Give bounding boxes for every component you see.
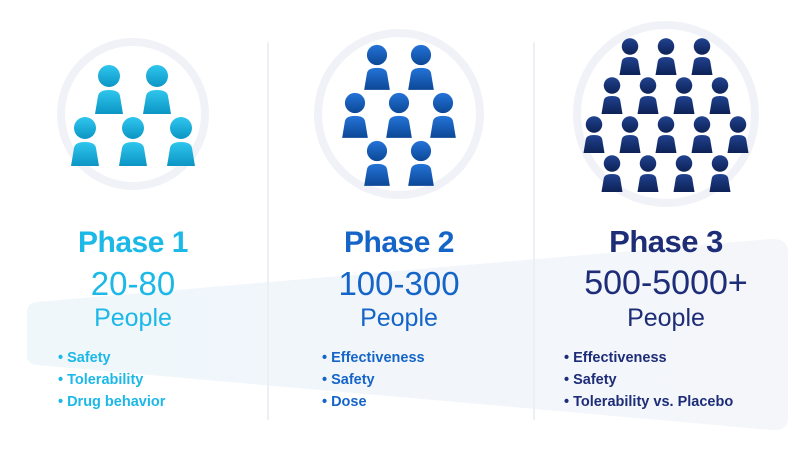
list-item: •Safety [322, 369, 425, 391]
bullet-text: Tolerability [67, 372, 143, 388]
phase-title: Phase 3 [609, 226, 723, 257]
bullet-dot-icon: • [564, 391, 569, 413]
people-row [61, 114, 205, 166]
people-row [355, 42, 443, 90]
people-row [594, 75, 738, 114]
person-icon [612, 36, 648, 75]
person-icon [421, 90, 465, 138]
person-icon [133, 62, 181, 114]
people-row [85, 62, 181, 114]
people-row [576, 114, 756, 153]
person-icon [333, 90, 377, 138]
list-item: •Safety [58, 347, 165, 369]
people-row [594, 153, 738, 192]
people-row [612, 36, 720, 75]
person-icon [666, 75, 702, 114]
list-item: •Safety [564, 369, 733, 391]
phase-columns: Phase 1 20-80 People •Safety •Tolerabili… [0, 0, 800, 450]
bullet-dot-icon: • [58, 369, 63, 391]
person-icon [594, 75, 630, 114]
person-icon [684, 114, 720, 153]
bullet-text: Safety [331, 372, 375, 388]
infographic-canvas: Phase 1 20-80 People •Safety •Tolerabili… [0, 0, 800, 450]
list-item: •Tolerability vs. Placebo [564, 391, 733, 413]
list-item: •Effectiveness [564, 347, 733, 369]
phase-column-1: Phase 1 20-80 People •Safety •Tolerabili… [0, 0, 266, 450]
bullet-text: Effectiveness [573, 350, 667, 366]
phase-column-3: Phase 3 500-5000+ People •Effectiveness … [532, 0, 800, 450]
people-row [333, 90, 465, 138]
people-group-icon [576, 36, 756, 192]
person-icon [702, 75, 738, 114]
person-icon [702, 153, 738, 192]
person-icon [61, 114, 109, 166]
bullet-dot-icon: • [564, 369, 569, 391]
people-group-icon [333, 42, 465, 186]
bullet-dot-icon: • [564, 347, 569, 369]
participant-count: 500-5000+ [584, 266, 748, 300]
bullet-dot-icon: • [322, 391, 327, 413]
people-label: People [360, 306, 438, 331]
phase-2-icon-area [299, 14, 499, 214]
people-row [355, 138, 443, 186]
bullet-text: Tolerability vs. Placebo [573, 394, 733, 410]
phase-3-text-block: Phase 3 500-5000+ People •Effectiveness … [532, 214, 800, 413]
bullet-dot-icon: • [58, 347, 63, 369]
person-icon [399, 42, 443, 90]
phase-2-text-block: Phase 2 100-300 People •Effectiveness •S… [266, 214, 532, 413]
person-icon [594, 153, 630, 192]
bullet-text: Dose [331, 394, 366, 410]
person-icon [576, 114, 612, 153]
person-icon [109, 114, 157, 166]
phase-title: Phase 2 [344, 228, 454, 258]
bullet-dot-icon: • [58, 391, 63, 413]
person-icon [85, 62, 133, 114]
bullet-text: Drug behavior [67, 394, 165, 410]
list-item: •Effectiveness [322, 347, 425, 369]
person-icon [157, 114, 205, 166]
people-label: People [627, 306, 705, 331]
list-item: •Tolerability [58, 369, 165, 391]
participant-count: 20-80 [91, 267, 175, 300]
people-group-icon [61, 62, 205, 166]
phase-2-bullet-list: •Effectiveness •Safety •Dose [322, 347, 425, 413]
person-icon [355, 42, 399, 90]
person-icon [648, 36, 684, 75]
person-icon [612, 114, 648, 153]
participant-count: 100-300 [338, 267, 459, 300]
list-item: •Drug behavior [58, 391, 165, 413]
phase-1-bullet-list: •Safety •Tolerability •Drug behavior [58, 347, 165, 413]
bullet-dot-icon: • [322, 347, 327, 369]
person-icon [377, 90, 421, 138]
person-icon [399, 138, 443, 186]
phase-column-2: Phase 2 100-300 People •Effectiveness •S… [266, 0, 532, 450]
bullet-text: Effectiveness [331, 350, 425, 366]
phase-1-icon-area [33, 14, 233, 214]
person-icon [648, 114, 684, 153]
person-icon [666, 153, 702, 192]
person-icon [720, 114, 756, 153]
phase-3-icon-area [566, 14, 766, 214]
person-icon [630, 153, 666, 192]
phase-title: Phase 1 [78, 228, 188, 258]
people-label: People [94, 306, 172, 331]
list-item: •Dose [322, 391, 425, 413]
bullet-text: Safety [67, 350, 111, 366]
person-icon [355, 138, 399, 186]
bullet-text: Safety [573, 372, 617, 388]
person-icon [630, 75, 666, 114]
phase-1-text-block: Phase 1 20-80 People •Safety •Tolerabili… [0, 214, 266, 413]
bullet-dot-icon: • [322, 369, 327, 391]
person-icon [684, 36, 720, 75]
phase-3-bullet-list: •Effectiveness •Safety •Tolerability vs.… [564, 347, 733, 413]
